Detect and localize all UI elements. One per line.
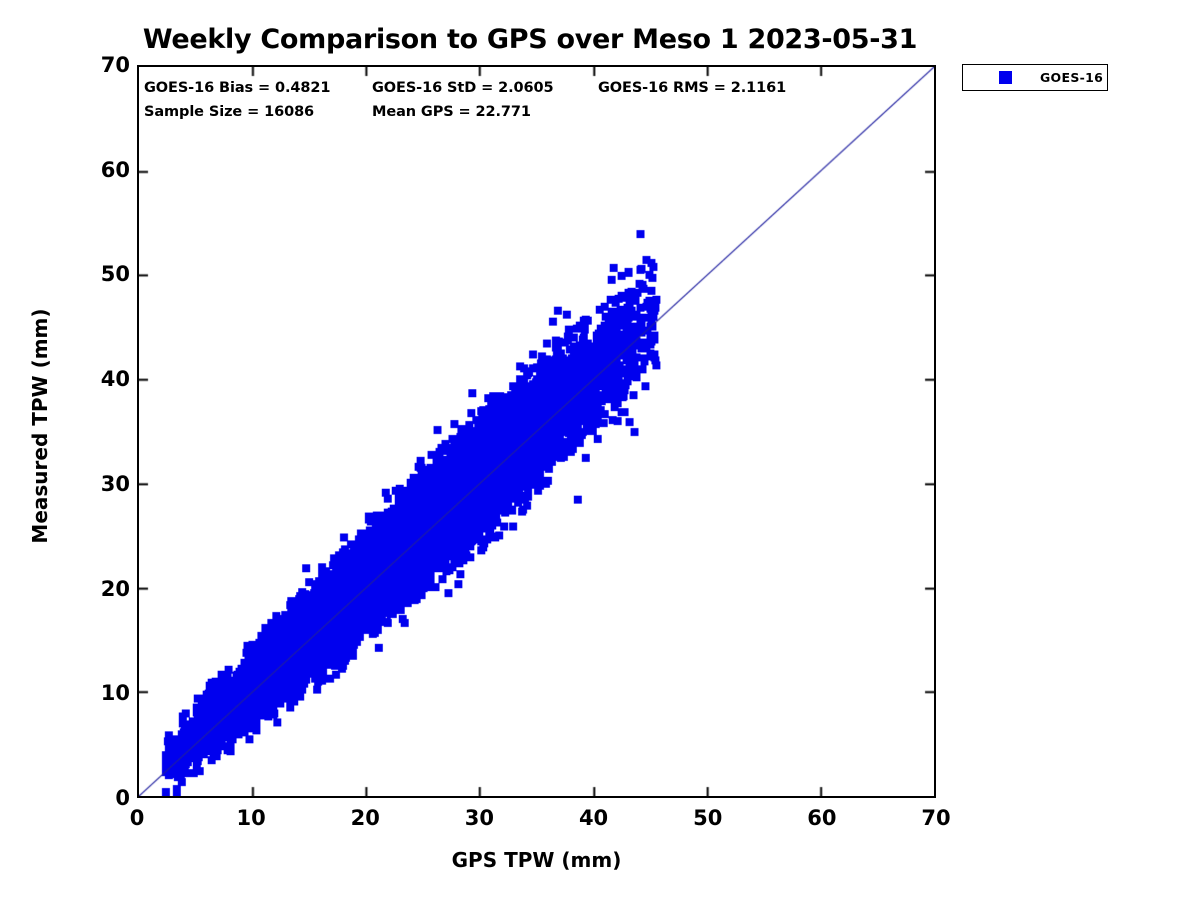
- x-axis-tick-labels: 010203040506070: [137, 806, 936, 836]
- chart-title: Weekly Comparison to GPS over Meso 1 202…: [0, 24, 1060, 55]
- x-tick-label: 10: [221, 806, 281, 830]
- chart-figure: Weekly Comparison to GPS over Meso 1 202…: [0, 0, 1200, 900]
- x-tick-label: 20: [335, 806, 395, 830]
- plot-area: [137, 65, 936, 798]
- y-tick-label: 70: [84, 53, 130, 77]
- legend: GOES-16: [962, 64, 1108, 91]
- legend-marker-goes-16: [999, 71, 1012, 84]
- x-tick-label: 70: [906, 806, 966, 830]
- x-tick-label: 40: [564, 806, 624, 830]
- y-tick-label: 60: [84, 158, 130, 182]
- stat-rms: GOES-16 RMS = 2.1161: [598, 80, 786, 96]
- y-tick-label: 10: [84, 681, 130, 705]
- scatter-plot-canvas: [139, 67, 934, 796]
- y-axis-title: Measured TPW (mm): [28, 276, 52, 576]
- stat-std: GOES-16 StD = 2.0605: [372, 80, 553, 96]
- x-axis-title: GPS TPW (mm): [137, 848, 936, 872]
- y-tick-label: 50: [84, 262, 130, 286]
- y-axis-tick-labels: 010203040506070: [76, 65, 130, 798]
- stat-sample-size: Sample Size = 16086: [144, 104, 314, 120]
- x-tick-label: 60: [792, 806, 852, 830]
- y-tick-label: 40: [84, 367, 130, 391]
- legend-label-goes-16: GOES-16: [1040, 70, 1103, 85]
- x-tick-label: 30: [449, 806, 509, 830]
- y-tick-label: 20: [84, 577, 130, 601]
- stat-mean-gps: Mean GPS = 22.771: [372, 104, 531, 120]
- x-tick-label: 50: [678, 806, 738, 830]
- stat-bias: GOES-16 Bias = 0.4821: [144, 80, 330, 96]
- x-tick-label: 0: [107, 806, 167, 830]
- y-tick-label: 30: [84, 472, 130, 496]
